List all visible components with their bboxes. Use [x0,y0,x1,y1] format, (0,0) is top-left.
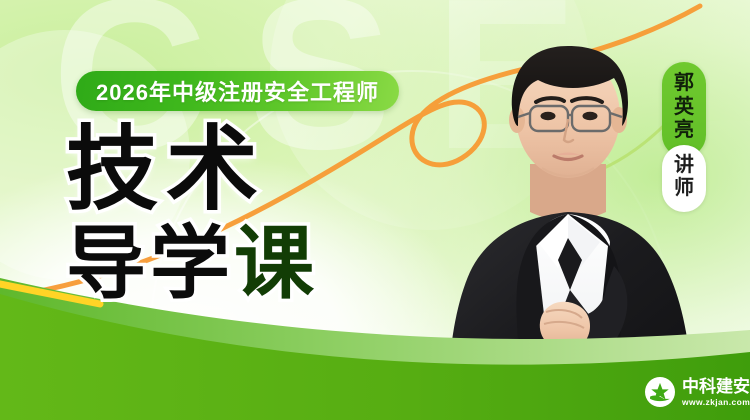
instructor-name-char-0: 郭 [674,72,694,96]
headline-line-2: 导学课 [66,224,396,304]
instructor-role-plate: 讲 师 [662,145,706,212]
instructor-name-char-1: 英 [674,96,694,120]
brand-url: www.zkjan.com [682,398,750,407]
instructor-name-plate: 郭 英 亮 [662,62,706,157]
headline-line-2-part-1: 导学 [66,219,234,308]
course-category-badge: 2026年中级注册安全工程师 [76,71,399,111]
instructor-badge: 郭 英 亮 讲 师 [662,62,706,212]
star-shield-logo-icon [645,377,675,407]
brand-logo: 中科建安 www.zkjan.com [645,377,750,407]
instructor-role-char-1: 师 [674,177,694,201]
headline-block: 技术 导学课 [66,126,396,304]
brand-name: 中科建安 [682,378,750,395]
instructor-role-char-0: 讲 [674,154,694,178]
course-promo-poster: CSE [0,0,750,420]
instructor-name-char-2: 亮 [674,119,694,143]
brand-text-block: 中科建安 www.zkjan.com [682,378,750,407]
course-category-label: 2026年中级注册安全工程师 [96,75,379,107]
headline-line-2-part-2: 课 [234,219,318,308]
headline-line-1: 技术 [66,126,396,214]
